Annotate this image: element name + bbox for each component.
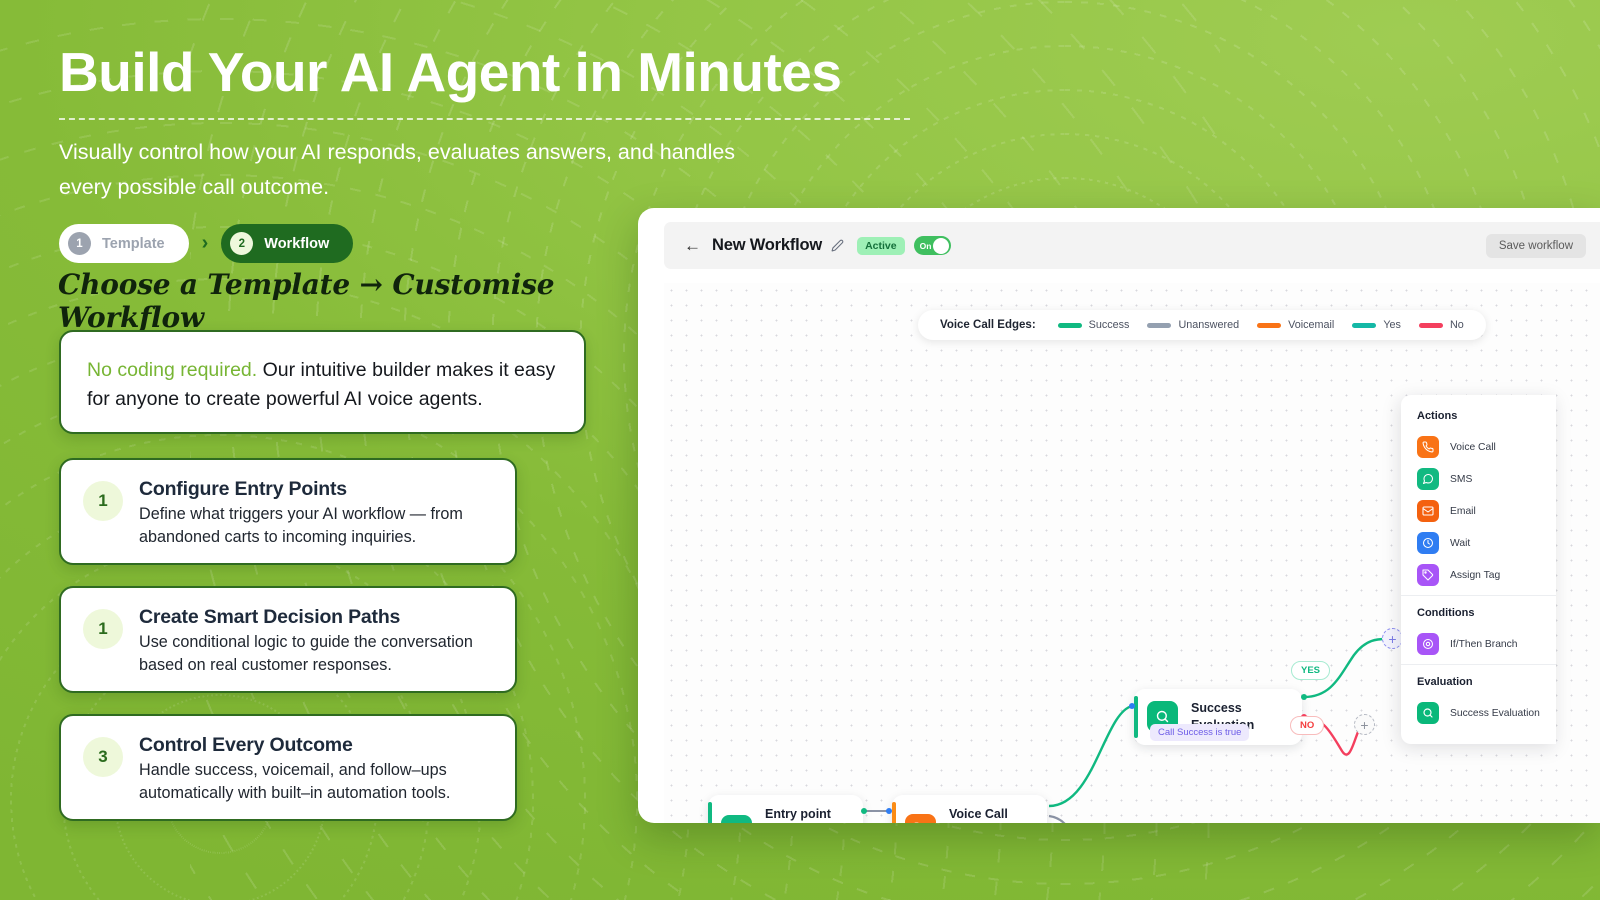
workflow-active-toggle[interactable]: On — [914, 236, 951, 255]
intro-card: No coding required. Our intuitive builde… — [59, 330, 586, 434]
feature-card-description: Define what triggers your AI workflow — … — [139, 503, 493, 550]
voice-call-edges-legend: Voice Call Edges: Success Unanswered Voi… — [918, 310, 1486, 340]
legend-item-success: Success — [1058, 319, 1130, 331]
feature-card-control-every-outcome: 3 Control Every Outcome Handle success, … — [59, 714, 517, 821]
add-node-button-no-branch[interactable]: + — [1354, 714, 1375, 735]
clock-icon — [1417, 532, 1439, 554]
node-voice-call[interactable]: Voice Call Agent configured — [892, 795, 1047, 823]
feature-card-title: Configure Entry Points — [139, 478, 493, 501]
phone-icon — [905, 814, 936, 823]
edge-handle-in-eval — [1129, 703, 1135, 709]
panel-item-sms[interactable]: SMS — [1401, 463, 1556, 495]
panel-item-label: Voice Call — [1450, 442, 1496, 453]
step-template-number: 1 — [68, 232, 91, 255]
workflow-builder-window: ← New Workflow Active On Save workflow V… — [638, 208, 1600, 823]
legend-label: No — [1450, 319, 1464, 331]
panel-item-label: Assign Tag — [1450, 570, 1500, 581]
step-indicator: 1 Template › 2 Workflow — [59, 224, 353, 263]
edge-voice-success — [1049, 706, 1132, 806]
edge-handle-in-voice — [886, 808, 892, 814]
legend-item-voicemail: Voicemail — [1257, 319, 1334, 331]
step-separator-icon: › — [202, 232, 209, 255]
feature-card-create-smart-decision-paths: 1 Create Smart Decision Paths Use condit… — [59, 586, 517, 693]
page-title: Build Your AI Agent in Minutes — [59, 44, 841, 102]
legend-item-unanswered: Unanswered — [1147, 319, 1239, 331]
legend-swatch — [1419, 323, 1443, 328]
panel-item-label: Wait — [1450, 538, 1470, 549]
left-content-column: Build Your AI Agent in Minutes Visually … — [0, 0, 640, 900]
workflow-title: New Workflow — [712, 236, 822, 255]
tag-icon — [1417, 564, 1439, 586]
panel-item-wait[interactable]: Wait — [1401, 527, 1556, 559]
legend-item-yes: Yes — [1352, 319, 1401, 331]
add-node-button-yes-branch[interactable]: + — [1382, 628, 1403, 649]
panel-item-label: Success Evaluation — [1450, 708, 1540, 719]
arrow-right-icon — [721, 815, 752, 823]
panel-item-voice-call[interactable]: Voice Call — [1401, 431, 1556, 463]
workflow-canvas[interactable]: Voice Call Edges: Success Unanswered Voi… — [664, 283, 1600, 823]
actions-side-panel: Actions Voice Call SMS Email — [1401, 395, 1556, 744]
legend-swatch — [1352, 323, 1376, 328]
branch-icon — [1417, 633, 1439, 655]
feature-card-description: Use conditional logic to guide the conve… — [139, 631, 493, 678]
status-badge: Active — [857, 237, 905, 255]
panel-item-label: SMS — [1450, 474, 1472, 485]
node-entry-point[interactable]: Entry point Abandoned Cart — [708, 795, 863, 823]
page-subtitle: Visually control how your AI responds, e… — [59, 135, 789, 205]
workflow-header: ← New Workflow Active On Save workflow — [664, 222, 1600, 269]
panel-heading-evaluation: Evaluation — [1401, 664, 1556, 697]
pencil-icon[interactable] — [831, 239, 844, 252]
step-template[interactable]: 1 Template — [59, 224, 189, 263]
panel-heading-actions: Actions — [1401, 410, 1556, 431]
intro-card-text: No coding required. Our intuitive builde… — [87, 356, 558, 414]
toggle-knob — [933, 238, 949, 254]
intro-highlight: No coding required. — [87, 359, 257, 381]
feature-card-number: 3 — [83, 737, 123, 777]
step-workflow-number: 2 — [230, 232, 253, 255]
edge-voice-unanswered — [1049, 816, 1094, 823]
feature-card-title: Control Every Outcome — [139, 734, 493, 757]
panel-item-success-evaluation[interactable]: Success Evaluation — [1401, 697, 1556, 729]
title-divider — [59, 118, 910, 120]
arrow-left-icon[interactable]: ← — [684, 236, 701, 256]
toggle-label: On — [920, 241, 932, 251]
tag-call-success-is-true: Call Success is true — [1150, 724, 1249, 741]
step-workflow-label: Workflow — [264, 236, 329, 252]
feature-card-title: Create Smart Decision Paths — [139, 606, 493, 629]
panel-item-assign-tag[interactable]: Assign Tag — [1401, 559, 1556, 591]
legend-item-no: No — [1419, 319, 1464, 331]
save-workflow-button[interactable]: Save workflow — [1486, 234, 1586, 258]
edge-label-yes: YES — [1291, 661, 1330, 680]
step-template-label: Template — [102, 236, 165, 252]
panel-item-if-then-branch[interactable]: If/Then Branch — [1401, 628, 1556, 660]
edge-label-no: NO — [1290, 716, 1324, 735]
edge-handle-out-entry — [861, 808, 867, 814]
legend-label: Success — [1089, 319, 1130, 331]
node-title: Entry point — [765, 806, 843, 823]
node-title: Voice Call — [949, 806, 1027, 823]
search-icon — [1417, 702, 1439, 724]
legend-swatch — [1147, 323, 1171, 328]
legend-label: Yes — [1383, 319, 1401, 331]
legend-swatch — [1257, 323, 1281, 328]
feature-card-description: Handle success, voicemail, and follow–up… — [139, 759, 493, 806]
phone-icon — [1417, 436, 1439, 458]
step-workflow[interactable]: 2 Workflow — [221, 224, 353, 263]
message-icon — [1417, 468, 1439, 490]
panel-item-label: If/Then Branch — [1450, 639, 1518, 650]
legend-label: Voicemail — [1288, 319, 1334, 331]
envelope-icon — [1417, 500, 1439, 522]
legend-label: Unanswered — [1178, 319, 1239, 331]
feature-card-configure-entry-points: 1 Configure Entry Points Define what tri… — [59, 458, 517, 565]
steps-caption: Choose a Template → Customise Workflow — [58, 268, 640, 334]
feature-card-number: 1 — [83, 609, 123, 649]
edge-handle-out-eval-yes — [1301, 694, 1307, 700]
legend-title: Voice Call Edges: — [940, 319, 1036, 331]
panel-item-email[interactable]: Email — [1401, 495, 1556, 527]
panel-item-label: Email — [1450, 506, 1476, 517]
legend-swatch — [1058, 323, 1082, 328]
feature-card-number: 1 — [83, 481, 123, 521]
panel-heading-conditions: Conditions — [1401, 595, 1556, 628]
